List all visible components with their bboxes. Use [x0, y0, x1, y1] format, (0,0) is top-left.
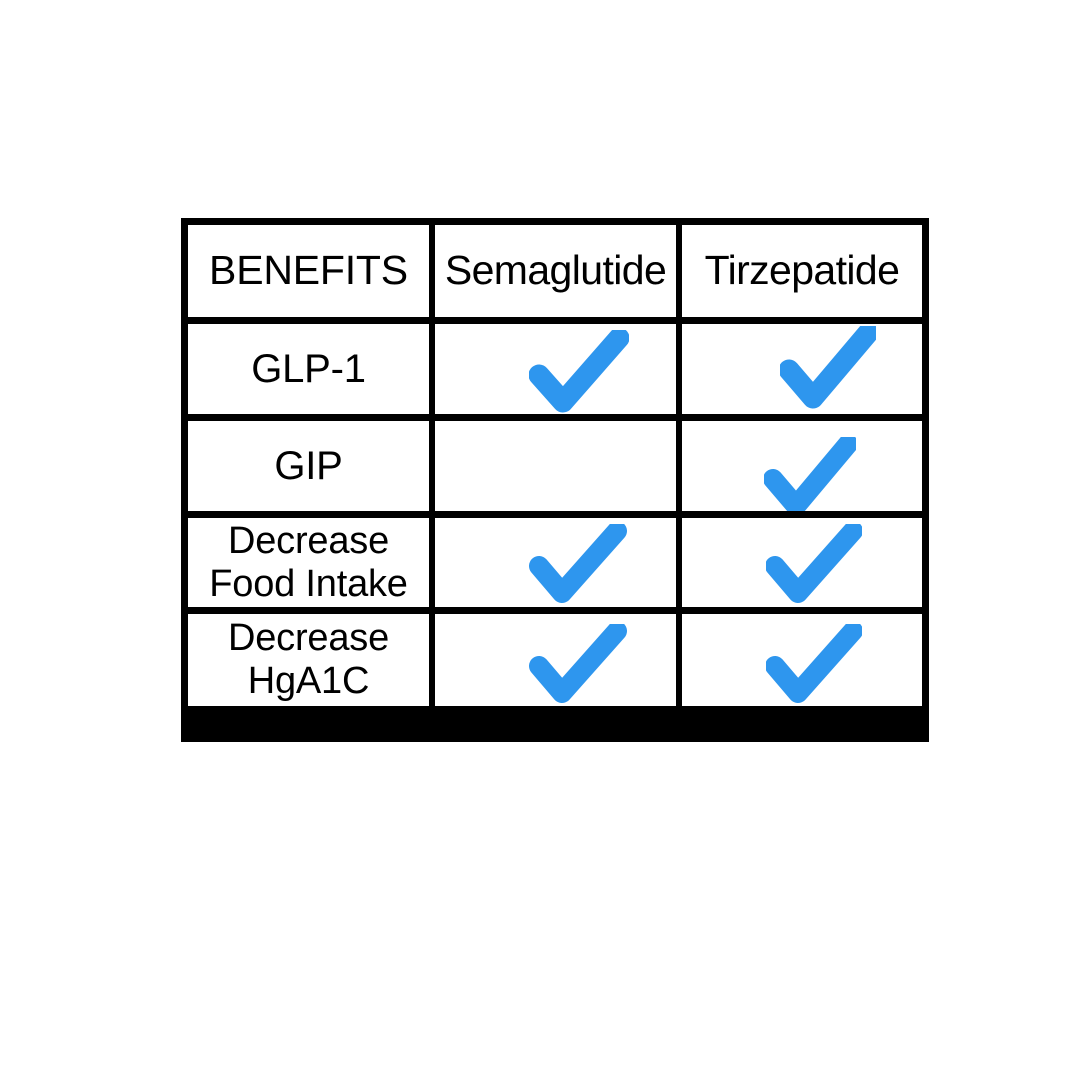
blue-checkmark-icon — [766, 624, 862, 704]
table-row: Decrease HgA1C — [188, 614, 922, 706]
blue-checkmark-icon — [766, 524, 862, 604]
column-header-benefits-label: BENEFITS — [209, 249, 408, 293]
blue-checkmark-icon — [529, 330, 629, 414]
cell-tirzepatide-decrease-food-intake — [682, 518, 922, 607]
cell-semaglutide-decrease-hga1c — [435, 614, 676, 706]
row-label-decrease-food-intake: Decrease Food Intake — [188, 518, 429, 607]
table-row: Decrease Food Intake — [188, 518, 922, 607]
row-label-gip: GIP — [188, 421, 429, 511]
blue-checkmark-icon — [780, 326, 876, 410]
blue-checkmark-icon — [529, 624, 627, 704]
row-label-decrease-hga1c: Decrease HgA1C — [188, 614, 429, 706]
table-header-row: BENEFITS Semaglutide Tirzepatide — [188, 225, 922, 317]
cell-semaglutide-gip — [435, 421, 676, 511]
cell-semaglutide-decrease-food-intake — [435, 518, 676, 607]
row-label-decrease-food-intake-text: Decrease Food Intake — [209, 520, 408, 605]
row-label-glp1-text: GLP-1 — [251, 348, 366, 391]
cell-tirzepatide-glp1 — [682, 324, 922, 414]
cell-semaglutide-glp1 — [435, 324, 676, 414]
column-header-benefits: BENEFITS — [188, 225, 429, 317]
blue-checkmark-icon — [529, 524, 627, 604]
column-header-tirzepatide-label: Tirzepatide — [705, 249, 900, 293]
column-header-semaglutide-label: Semaglutide — [445, 249, 666, 293]
blue-checkmark-icon — [764, 437, 856, 511]
cell-tirzepatide-gip — [682, 421, 922, 511]
row-label-glp1: GLP-1 — [188, 324, 429, 414]
row-label-gip-text: GIP — [274, 445, 342, 488]
benefits-comparison-table: BENEFITS Semaglutide Tirzepatide GLP-1 — [181, 218, 929, 742]
image-canvas: BENEFITS Semaglutide Tirzepatide GLP-1 — [0, 0, 1080, 1080]
cell-tirzepatide-decrease-hga1c — [682, 614, 922, 706]
column-header-semaglutide: Semaglutide — [435, 225, 676, 317]
table-row: GLP-1 — [188, 324, 922, 414]
table-row: GIP — [188, 421, 922, 511]
column-header-tirzepatide: Tirzepatide — [682, 225, 922, 317]
row-label-decrease-hga1c-text: Decrease HgA1C — [228, 617, 389, 702]
